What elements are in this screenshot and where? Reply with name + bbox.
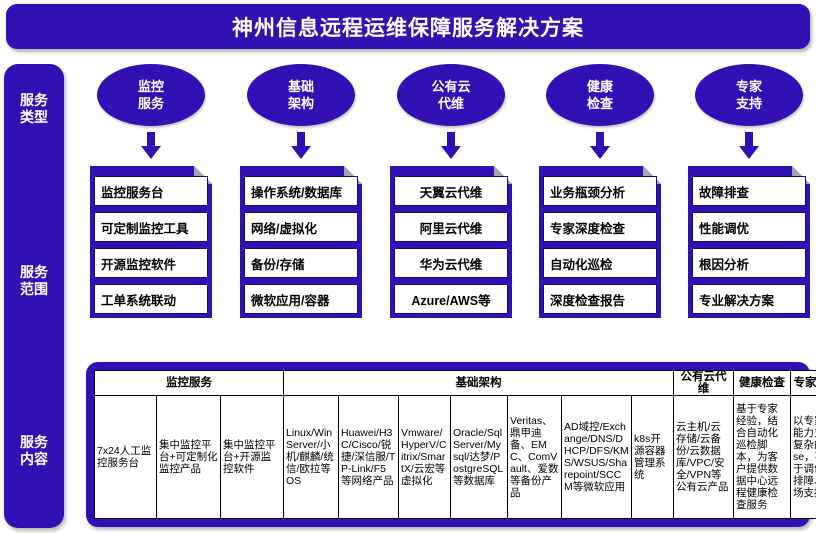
sidebar-item-service-content: 服务 内容 [4,434,64,468]
table-cell: 云主机/云存储/云备份/云数据库/VPC/安全/VPN等公有云产品 [674,396,734,519]
service-type-public-cloud[interactable]: 公有云 代维 [397,64,505,126]
sidebar-item-service-type: 服务 类型 [4,92,64,126]
service-type-health-check-line1: 健康 [587,78,613,95]
service-type-monitoring-line1: 监控 [138,78,164,95]
table-body: 7x24人工监控服务台集中监控平台+可定制化监控产品集中监控平台+开源监控软件L… [95,396,816,519]
table-group-header: 基础架构 [284,371,674,396]
sidebar-item-service-scope: 服务 范围 [4,264,64,298]
scope-list-expert-support: 故障排查 性能调优 根因分析 专业解决方案 [692,176,806,314]
service-type-health-check-line2: 检查 [587,95,613,112]
scope-item[interactable]: 阿里云代维 [394,212,508,242]
scope-item[interactable]: 监控服务台 [94,176,208,206]
table-group-header: 监控服务 [95,371,284,396]
scope-item[interactable]: 网络/虚拟化 [244,212,358,242]
scope-item[interactable]: 根因分析 [692,248,806,278]
table-group-header: 专家支持 [791,371,816,396]
scope-item[interactable]: 操作系统/数据库 [244,176,358,206]
service-type-monitoring[interactable]: 监控 服务 [97,64,205,126]
service-type-infrastructure[interactable]: 基础 架构 [247,64,355,126]
scope-item[interactable]: 华为云代维 [394,248,508,278]
scope-list-infrastructure: 操作系统/数据库 网络/虚拟化 备份/存储 微软应用/容器 [244,176,358,314]
table-group-header: 健康检查 [734,371,791,396]
sidebar-item-service-type-line1: 服务 [4,92,64,109]
scope-list-health-check: 业务瓶颈分析 专家深度检查 自动化巡检 深度检查报告 [543,176,657,314]
service-type-infrastructure-line2: 架构 [288,95,314,112]
scope-list-monitoring: 监控服务台 可定制监控工具 开源监控软件 工单系统联动 [94,176,208,314]
sidebar-item-service-type-line2: 类型 [4,109,64,126]
table-cell: Huawei/H3C/Cisco/锐捷/深信服/TP-Link/F5等网络产品 [339,396,399,519]
down-arrow-icon [290,132,312,160]
scope-item[interactable]: 自动化巡检 [543,248,657,278]
service-content-table: 监控服务基础架构公有云代维健康检查专家支持 7x24人工监控服务台集中监控平台+… [94,370,816,519]
sidebar: 服务 类型 服务 范围 服务 内容 [4,64,64,528]
service-content-panel: 监控服务基础架构公有云代维健康检查专家支持 7x24人工监控服务台集中监控平台+… [86,362,810,527]
table-cell: AD域控/Exchange/DNS/DHCP/DFS/KMS/WSUS/Shar… [562,396,632,519]
service-type-expert-support-line2: 支持 [736,95,762,112]
service-type-expert-support[interactable]: 专家 支持 [695,64,803,126]
down-arrow-icon [140,132,162,160]
scope-item[interactable]: 专家深度检查 [543,212,657,242]
sidebar-item-service-content-line2: 内容 [4,451,64,468]
table-head: 监控服务基础架构公有云代维健康检查专家支持 [95,371,816,396]
table-cell: 以专家的能力支持复杂的Case，不限于调优、排障、现场支持 [791,396,816,519]
scope-item[interactable]: 备份/存储 [244,248,358,278]
service-type-monitoring-line2: 服务 [138,95,164,112]
scope-item[interactable]: 开源监控软件 [94,248,208,278]
scope-item[interactable]: 工单系统联动 [94,284,208,314]
scope-item[interactable]: Azure/AWS等 [394,284,508,314]
page-title-banner: 神州信息远程运维保障服务解决方案 [6,4,810,49]
down-arrow-icon [589,132,611,160]
table-cell: 基于专家经验，结合自动化巡检脚本，为客户提供数据中心远程健康检查服务 [734,396,791,519]
down-arrow-icon [440,132,462,160]
scope-list-public-cloud: 天翼云代维 阿里云代维 华为云代维 Azure/AWS等 [394,176,508,314]
scope-item[interactable]: 故障排查 [692,176,806,206]
scope-item[interactable]: 可定制监控工具 [94,212,208,242]
sidebar-item-service-scope-line1: 服务 [4,264,64,281]
table-cell: k8s开源容器管理系统 [632,396,674,519]
table-group-header-row: 监控服务基础架构公有云代维健康检查专家支持 [95,371,816,396]
table-cell: Linux/WinServer/小机/麒麟/统信/欧拉等OS [284,396,339,519]
table-cell: 集中监控平台+可定制化监控产品 [157,396,221,519]
scope-item[interactable]: 专业解决方案 [692,284,806,314]
table-group-header: 公有云代维 [674,371,734,396]
table-cell: 集中监控平台+开源监控软件 [221,396,284,519]
scope-item[interactable]: 业务瓶颈分析 [543,176,657,206]
scope-item[interactable]: 微软应用/容器 [244,284,358,314]
service-type-public-cloud-line1: 公有云 [431,78,470,95]
scope-item[interactable]: 天翼云代维 [394,176,508,206]
service-type-expert-support-line1: 专家 [736,78,762,95]
table-cell: Veritas、鼎甲迪备、EMC、ComVault、爱数等备份产品 [508,396,562,519]
service-type-public-cloud-line2: 代维 [438,95,464,112]
service-type-health-check[interactable]: 健康 检查 [546,64,654,126]
sidebar-item-service-content-line1: 服务 [4,434,64,451]
table-cell: 7x24人工监控服务台 [95,396,157,519]
service-type-infrastructure-line1: 基础 [288,78,314,95]
table-cell: Oracle/SqlServer/Mysql/达梦/PostgreSQL等数据库 [451,396,508,519]
scope-item[interactable]: 性能调优 [692,212,806,242]
table-cell: Vmware/HyperV/Citrix/SmartX/云宏等虚拟化 [399,396,451,519]
sidebar-item-service-scope-line2: 范围 [4,281,64,298]
down-arrow-icon [738,132,760,160]
scope-item[interactable]: 深度检查报告 [543,284,657,314]
page-title: 神州信息远程运维保障服务解决方案 [232,12,584,42]
table-row: 7x24人工监控服务台集中监控平台+可定制化监控产品集中监控平台+开源监控软件L… [95,396,816,519]
